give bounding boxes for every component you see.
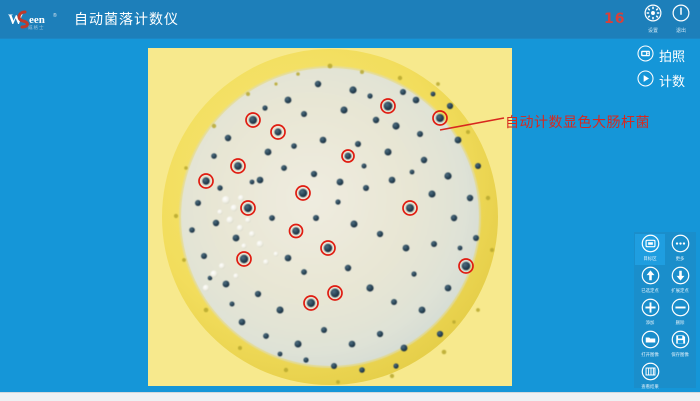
view-result-label: 查看结果: [635, 385, 665, 391]
svg-text:®: ®: [53, 12, 57, 19]
exit-label: 退出: [666, 27, 696, 34]
application-window: W een ® 威格士 自动菌落计数仪 16: [0, 0, 700, 400]
arrow-down-icon: [665, 266, 695, 289]
select-point-down-label: 扩展定点: [665, 289, 695, 295]
count-button[interactable]: 计数: [637, 70, 685, 91]
delete-label: 删除: [665, 321, 695, 327]
count-label: 计数: [659, 71, 685, 90]
colony-count-readout: 16: [604, 11, 625, 27]
petri-dish-image[interactable]: [148, 48, 512, 386]
title-bar: W een ® 威格士 自动菌落计数仪 16: [0, 0, 700, 39]
add-button[interactable]: 添加: [635, 298, 665, 329]
plus-icon: [635, 298, 665, 321]
arrow-up-icon: [635, 266, 665, 289]
tool-grid-panel: 目标区 更多 已选定点: [634, 232, 696, 388]
page-title: 自动菌落计数仪: [74, 9, 179, 29]
view-result-button[interactable]: 查看结果: [635, 362, 665, 393]
company-logo: W een ® 威格士: [8, 8, 68, 32]
settings-button[interactable]: 设置: [638, 4, 668, 36]
ellipsis-icon: [665, 234, 695, 257]
add-label: 添加: [635, 321, 665, 327]
save-icon: [665, 330, 695, 353]
save-image-label: 保存图像: [665, 353, 695, 359]
open-image-label: 打开图像: [635, 353, 665, 359]
list-icon: [635, 362, 665, 385]
photo-button[interactable]: 拍照: [637, 45, 685, 66]
exit-button[interactable]: 退出: [666, 4, 696, 36]
minus-icon: [665, 298, 695, 321]
photo-label: 拍照: [659, 46, 685, 65]
target-area-button[interactable]: 目标区: [635, 234, 665, 265]
play-icon: [637, 70, 654, 91]
delete-button[interactable]: 删除: [665, 298, 695, 329]
camera-icon: [637, 45, 654, 66]
more-label: 更多: [665, 257, 695, 263]
left-background: [0, 38, 148, 392]
settings-label: 设置: [638, 27, 668, 34]
gear-icon: [638, 4, 668, 26]
annotation-leader-line: [432, 112, 512, 136]
folder-icon: [635, 330, 665, 353]
open-image-button[interactable]: 打开图像: [635, 330, 665, 361]
more-button[interactable]: 更多: [665, 234, 695, 265]
dish-canvas: [148, 48, 512, 386]
save-image-button[interactable]: 保存图像: [665, 330, 695, 361]
frame-icon: [635, 234, 665, 257]
target-area-label: 目标区: [635, 257, 665, 263]
select-point-up-label: 已选定点: [635, 289, 665, 295]
annotation-label: 自动计数显色大肠杆菌: [505, 112, 650, 132]
select-point-down-button[interactable]: 扩展定点: [665, 266, 695, 297]
power-icon: [666, 4, 696, 26]
svg-text:威格士: 威格士: [28, 24, 45, 31]
select-point-up-button[interactable]: 已选定点: [635, 266, 665, 297]
